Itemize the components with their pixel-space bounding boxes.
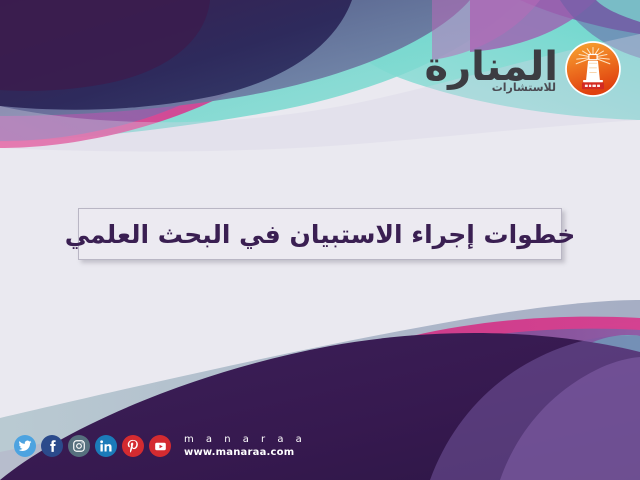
youtube-icon[interactable] <box>149 435 171 457</box>
linkedin-icon[interactable] <box>95 435 117 457</box>
facebook-icon[interactable] <box>41 435 63 457</box>
brand-logo: المنارة للاستشارات <box>424 40 622 98</box>
footer-social-bar: m a n a r a a www.manaraa.com <box>14 434 306 458</box>
brand-name: m a n a r a a <box>184 434 306 446</box>
instagram-icon[interactable] <box>68 435 90 457</box>
pinterest-icon[interactable] <box>122 435 144 457</box>
brand-website[interactable]: www.manaraa.com <box>184 447 306 459</box>
lighthouse-icon <box>564 40 622 98</box>
logo-wordmark: المنارة للاستشارات <box>424 46 558 93</box>
page-title: خطوات إجراء الاستبيان في البحث العلمي <box>65 220 576 249</box>
footer-brand-text: m a n a r a a www.manaraa.com <box>184 434 306 458</box>
logo-tagline: للاستشارات <box>492 82 556 93</box>
title-box: خطوات إجراء الاستبيان في البحث العلمي <box>78 208 562 260</box>
twitter-icon[interactable] <box>14 435 36 457</box>
slide-canvas: المنارة للاستشارات خطوات إجراء الاستبيان… <box>0 0 640 480</box>
